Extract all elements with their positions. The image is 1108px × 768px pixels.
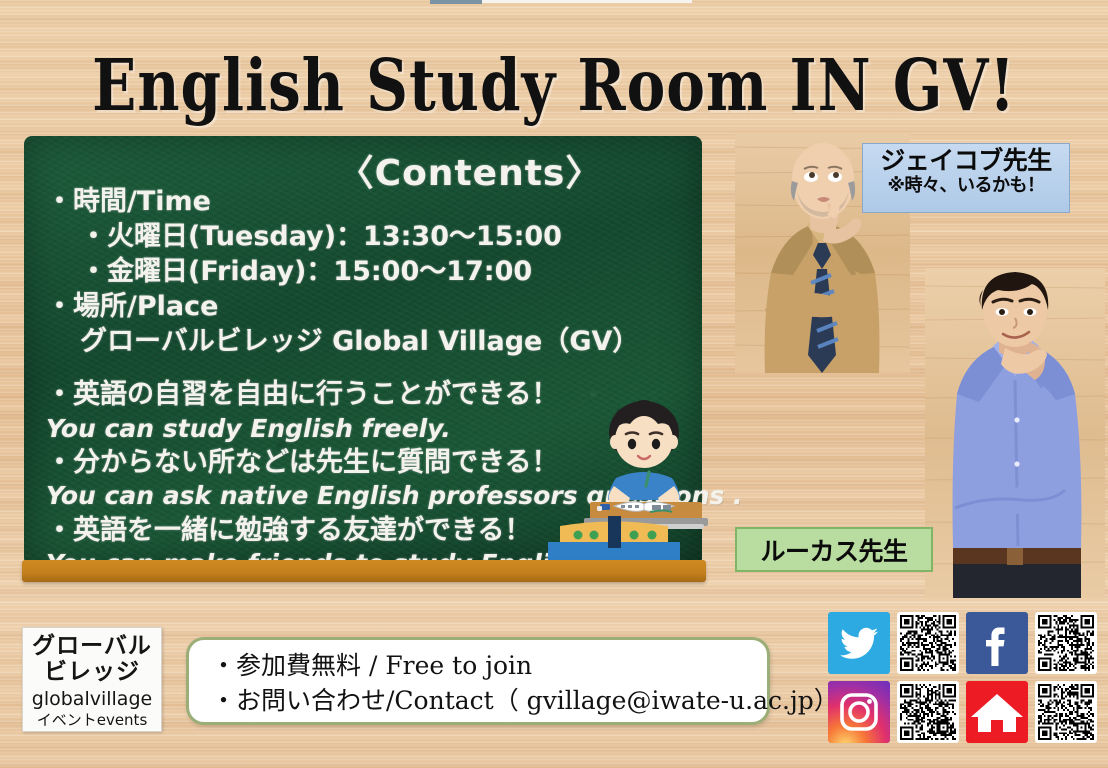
jacob-name-tag: ジェイコブ先生 ※時々、いるかも！ (862, 143, 1070, 213)
logo-en-line1: globalvillage (23, 688, 161, 712)
board-line-gap (46, 359, 686, 377)
blackboard-chalk-tray (22, 560, 706, 582)
logo-en-line2: イベントevents (23, 711, 161, 729)
logo-jp-line1: グローバル (23, 634, 161, 660)
instagram-qr-code[interactable] (897, 681, 959, 743)
home-website-icon[interactable] (966, 681, 1028, 743)
logo-jp-line2: ビレッジ (23, 660, 161, 686)
page-title: English Study Room IN GV! (0, 44, 1108, 127)
board-line: ・場所/Place (46, 289, 686, 324)
instagram-icon[interactable] (828, 681, 890, 743)
website-qr-code[interactable] (1035, 681, 1097, 743)
lucas-name-tag: ルーカス先生 (735, 527, 933, 572)
poster-canvas: English Study Room IN GV! 〈Contents〉 ・時間… (0, 0, 1108, 768)
jacob-note-label: ※時々、いるかも！ (863, 175, 1069, 197)
info-line-contact: ・お問い合わせ/Contact（ gvillage@iwate-u.ac.jp） (211, 684, 767, 719)
blackboard: 〈Contents〉 ・時間/Time・火曜日(Tuesday)：13:30〜1… (24, 136, 702, 566)
global-village-logo: グローバル ビレッジ globalvillage イベントevents (22, 627, 162, 732)
twitter-icon[interactable] (828, 612, 890, 674)
board-line: ・金曜日(Friday)：15:00〜17:00 (46, 254, 686, 289)
info-box: ・参加費無料 / Free to join ・お問い合わせ/Contact（ g… (186, 637, 770, 725)
board-line: グローバルビレッジ Global Village（GV） (46, 324, 686, 359)
top-edge-artifact (430, 0, 482, 4)
board-line: ・時間/Time (46, 184, 686, 219)
twitter-qr-code[interactable] (897, 612, 959, 674)
jacob-name-label: ジェイコブ先生 (863, 147, 1069, 175)
facebook-icon[interactable] (966, 612, 1028, 674)
facebook-qr-code[interactable] (1035, 612, 1097, 674)
board-line: ・火曜日(Tuesday)：13:30〜15:00 (46, 219, 686, 254)
lucas-name-label: ルーカス先生 (760, 532, 907, 568)
info-line-fee: ・参加費無料 / Free to join (211, 649, 767, 684)
top-edge-artifact-white (482, 0, 692, 3)
lucas-teacher-photo (925, 268, 1105, 598)
social-links-grid (828, 612, 1096, 752)
